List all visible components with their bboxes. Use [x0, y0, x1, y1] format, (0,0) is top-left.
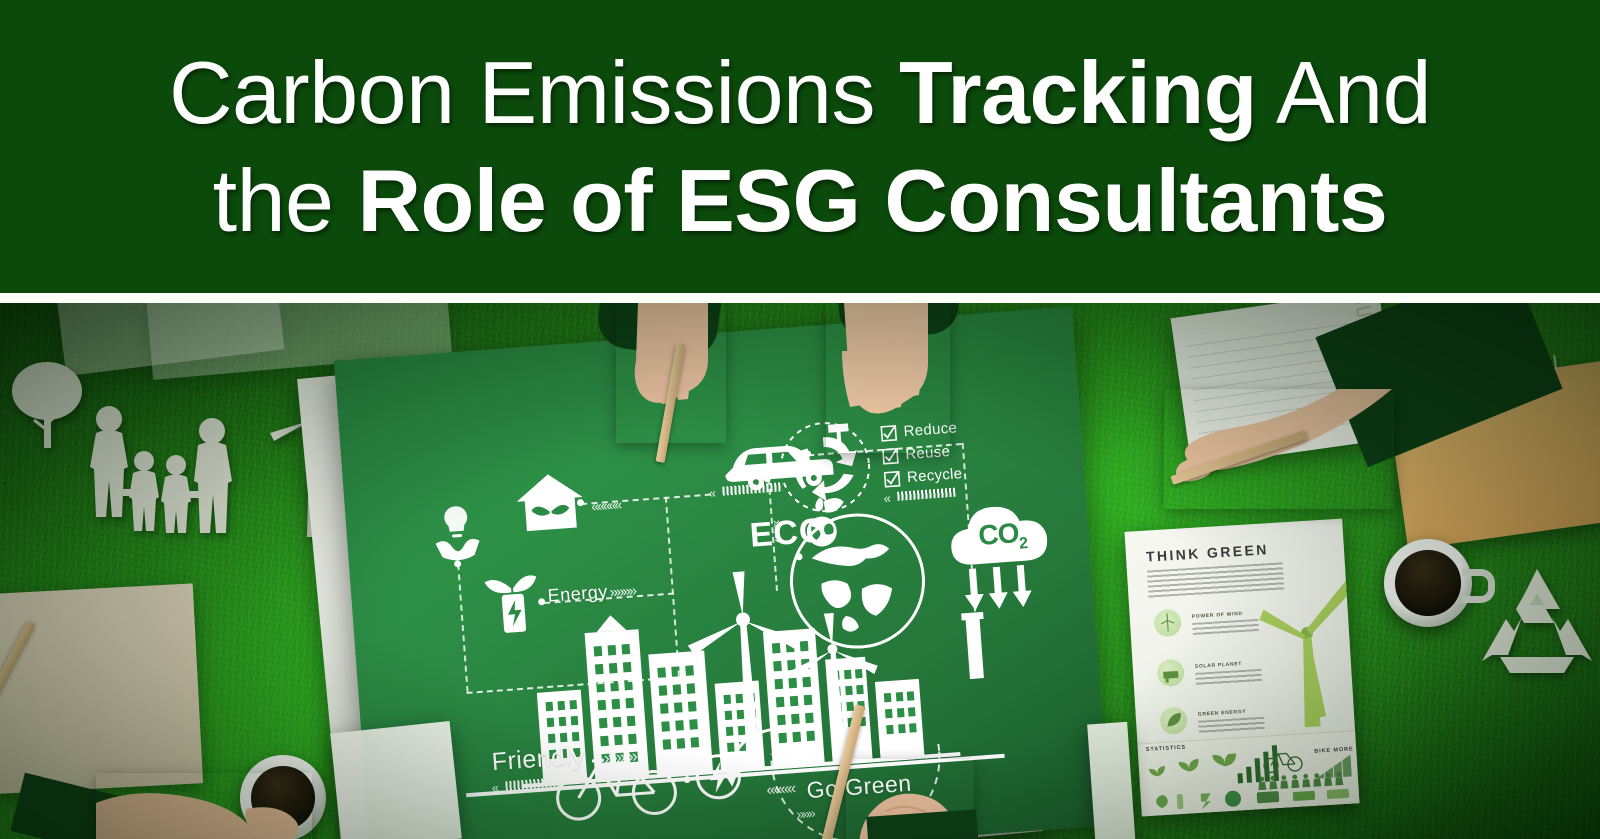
- curved-arrow-icon: [714, 726, 779, 802]
- solar-panel-icon: [1156, 659, 1185, 688]
- arrow-marks-house: «««««: [591, 496, 621, 514]
- page-root: Carbon Emissions Tracking And the Role o…: [0, 0, 1600, 839]
- paper-tree-cutout: [8, 358, 86, 450]
- hands-holding-lightbulb-icon: [423, 500, 491, 567]
- globe-icon: [783, 506, 933, 656]
- paper-recycle-symbol-cutout: [1478, 565, 1596, 677]
- paper-corner-bottom-center: [330, 721, 462, 839]
- title-banner: Carbon Emissions Tracking And the Role o…: [0, 0, 1600, 293]
- hand-right-with-pencil: [1164, 389, 1394, 509]
- section-icon-power-of-wind: [1153, 609, 1182, 638]
- section-label-solar-planet: SOLAR PLANET: [1195, 661, 1243, 670]
- hand-top-center-right: [826, 303, 950, 453]
- leaf-icon: [1159, 706, 1188, 735]
- title-part-the: the: [213, 151, 358, 250]
- hero-photograph: ECO: [0, 303, 1600, 839]
- dashed-connector-left-vertical: [457, 564, 468, 692]
- title-part-tracking: Tracking: [899, 43, 1257, 142]
- header-divider: [0, 293, 1600, 303]
- title-part-and: And: [1257, 43, 1431, 142]
- arrow-marks-friendly: »»»»: [603, 746, 636, 769]
- stats-bicycle-icon: [1262, 747, 1303, 773]
- checkbox-checked-icon: [884, 470, 901, 487]
- section-label-green-energy: GREEN ENERGY: [1198, 709, 1247, 718]
- section-text-power-of-wind: [1192, 619, 1259, 637]
- stats-area-chart: [1315, 755, 1352, 779]
- coffee-cup-right: [1384, 539, 1472, 627]
- think-green-title: THINK GREEN: [1146, 541, 1270, 564]
- eco-house-icon: [513, 469, 587, 536]
- node-dot-1: [454, 560, 461, 567]
- coffee-liquid: [1395, 550, 1460, 615]
- barcode-mark-checklist: [897, 488, 956, 501]
- page-title-line-1: Carbon Emissions Tracking And: [169, 41, 1431, 145]
- think-green-turbine-illustration: [1256, 574, 1360, 732]
- hand-bottom-left-holding-cup: [96, 773, 312, 839]
- section-icon-solar-planet: [1156, 659, 1185, 688]
- page-title-line-2: the Role of ESG Consultants: [213, 149, 1388, 253]
- stats-plant-icons: [1146, 753, 1248, 789]
- paper-family-cutout: [82, 403, 232, 533]
- section-label-power-of-wind: POWER OF WIND: [1192, 611, 1243, 620]
- think-green-document: THINK GREEN POWER OF WIND SOLAR PLANET: [1125, 519, 1360, 817]
- title-part-carbon-emissions: Carbon Emissions: [169, 43, 899, 142]
- arrow-marks-checklist: «: [883, 491, 889, 506]
- section-text-solar-planet: [1195, 669, 1262, 687]
- checklist-label-recycle: Recycle: [906, 465, 963, 486]
- section-text-green-energy: [1198, 717, 1265, 735]
- poster-label-co2: CO2: [977, 517, 1027, 557]
- tan-notebook-left: [0, 583, 203, 794]
- section-icon-green-energy: [1159, 706, 1188, 735]
- title-part-role-of-esg-consultants: Role of ESG Consultants: [357, 151, 1387, 250]
- wind-turbine-icon: [1153, 609, 1182, 638]
